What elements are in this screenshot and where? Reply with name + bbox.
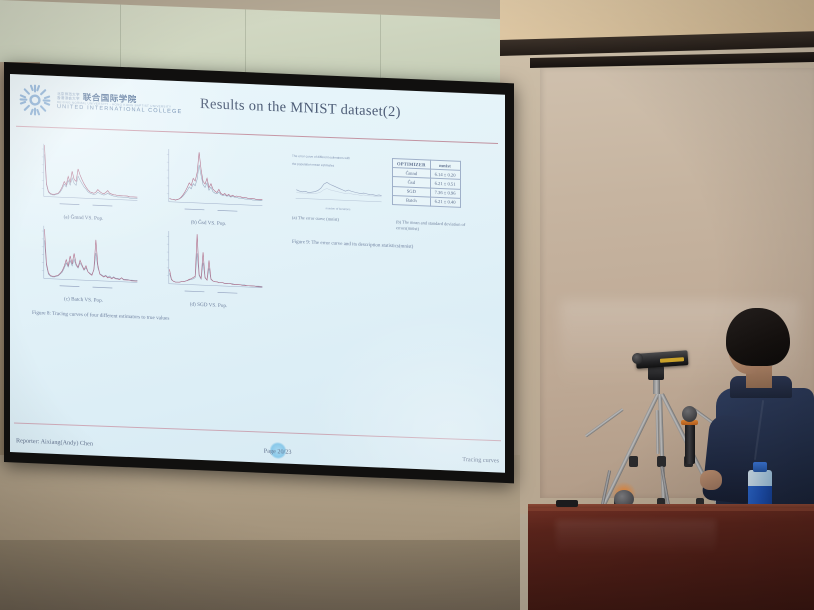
uic-snowflake-icon (18, 82, 52, 117)
plot-b-svg (153, 144, 265, 221)
plot-d-svg (153, 226, 265, 303)
projection-screen[interactable]: 北京师范大学 香港浸会大学 联合国际学院 BEIJING NORMAL UNIV… (10, 74, 505, 473)
error-curve-svg (292, 169, 384, 207)
tripod-head (648, 366, 664, 380)
chart-panel-d: (d) SGD VS. Pop. (151, 226, 266, 311)
chart-caption-a: (a) Ĝmnd VS. Pop. (64, 214, 104, 222)
podium-nameplate (556, 500, 578, 507)
footer-divider (14, 422, 501, 441)
footer-presenter: Reporter: Aixiang(Andy) Chen (16, 437, 93, 447)
chart-panel-c: (c) Batch VS. Pop. (26, 221, 141, 306)
stats-table: OPTIMIZER mnist Ĝmnd 6.14 ± 0.20 Ĝsd (392, 158, 461, 208)
footer-page-wrap: Page 20/23 (264, 448, 292, 456)
chart-caption-b: (b) Ĝsd VS. Pop. (191, 220, 227, 227)
figure8-block: (a) Ĝmnd VS. Pop. (26, 139, 266, 326)
chart-panel-b: (b) Ĝsd VS. Pop. (151, 144, 266, 229)
figure9-block: The error curve of different estimators … (292, 154, 497, 253)
lecture-room-scene: 北京师范大学 香港浸会大学 联合国际学院 BEIJING NORMAL UNIV… (0, 0, 814, 610)
presenter-hair (726, 308, 790, 366)
floor (0, 540, 520, 610)
podium-reflection (556, 520, 716, 556)
plot-c-svg (28, 221, 140, 298)
figure9-subcaption-a: (a) The error curve (mnist) (292, 215, 378, 231)
bottle-cap (753, 462, 767, 472)
plot-a-svg (28, 139, 140, 216)
presenter-hand (700, 470, 722, 490)
figure8-caption: Figure 8: Tracing curves of four differe… (26, 310, 266, 326)
chart-caption-d: (d) SGD VS. Pop. (190, 302, 228, 310)
camera-lens-icon (632, 353, 643, 364)
table-row: Batch 6.21 ± 0.40 (393, 195, 461, 207)
chart-caption-c: (c) Batch VS. Pop. (64, 296, 103, 304)
figure9-subcaption-b: (b) The mean and standard deviation of e… (396, 219, 488, 235)
tripod-center-post (653, 378, 660, 394)
screen-glare-secondary (305, 304, 505, 472)
slide-title: Results on the MNIST dataset(2) (200, 96, 401, 121)
footer-page-number: Page 20/23 (264, 448, 292, 456)
error-note-line2: the population mean estimates (292, 161, 384, 169)
error-curve-panel: The error curve of different estimators … (292, 154, 384, 213)
stats-opt-3: Batch (393, 195, 431, 206)
uic-logo: 北京师范大学 香港浸会大学 联合国际学院 BEIJING NORMAL UNIV… (18, 82, 182, 123)
microphone-body (685, 424, 695, 464)
microphone-icon (682, 406, 697, 422)
figure9-subcaptions: (a) The error curve (mnist) (b) The mean… (292, 215, 497, 236)
figure9-caption: Figure 9: The error curve and its descri… (292, 239, 497, 253)
footer-section: Tracing curves (462, 456, 499, 465)
stats-val-3: 6.21 ± 0.40 (430, 197, 460, 207)
figure9-row: The error curve of different estimators … (292, 154, 497, 218)
error-note-line1: The error curve of different estimators … (292, 154, 384, 162)
chart-panel-a: (a) Ĝmnd VS. Pop. (26, 139, 141, 224)
slide-content: 北京师范大学 香港浸会大学 联合国际学院 BEIJING NORMAL UNIV… (10, 74, 505, 473)
figure8-grid: (a) Ĝmnd VS. Pop. (26, 139, 266, 311)
